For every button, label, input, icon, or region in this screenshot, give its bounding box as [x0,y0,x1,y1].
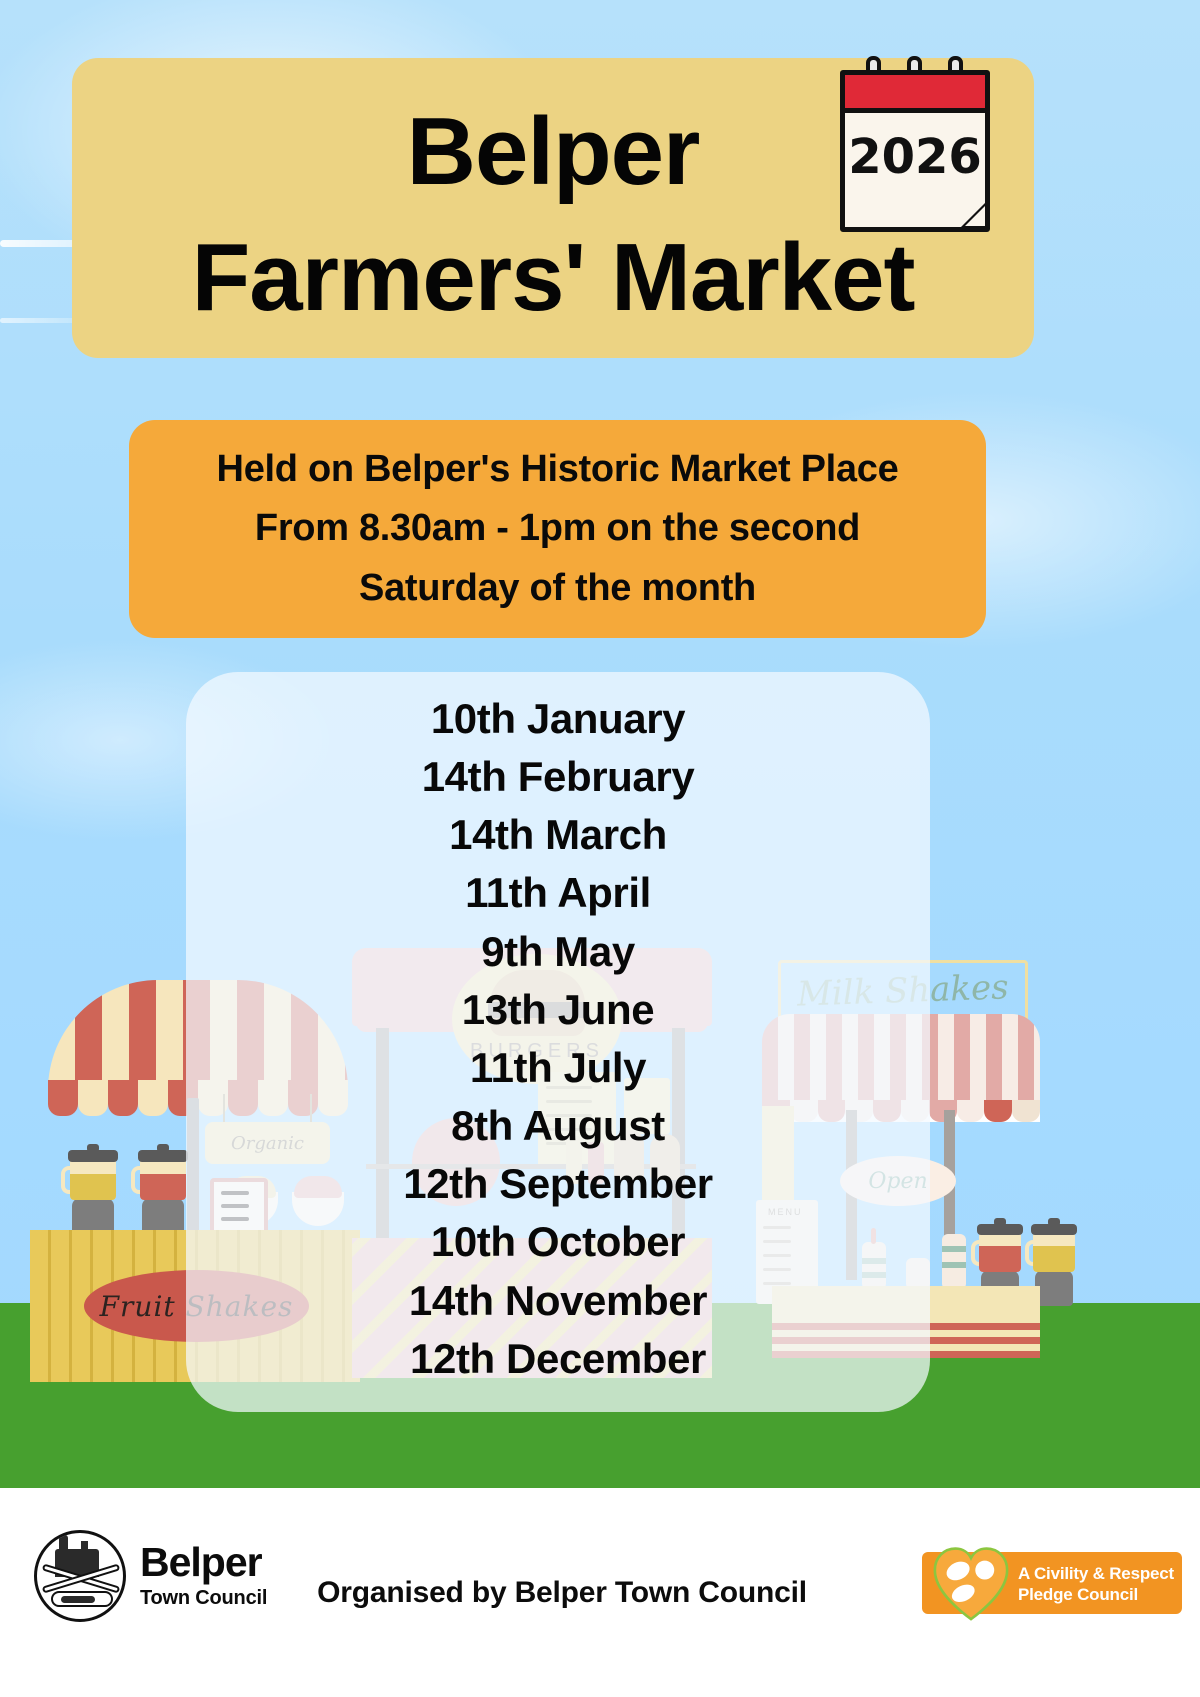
info-line-3: Saturday of the month [129,559,986,618]
calendar-page-fold [960,202,986,228]
market-date: 11th April [186,864,930,922]
market-date: 12th December [186,1330,930,1388]
civility-respect-pledge-badge: A Civility & Respect Pledge Council [922,1552,1182,1614]
heart-icon [928,1540,1014,1626]
blender-icon [134,1148,192,1236]
info-line-2: From 8.30am - 1pm on the second [129,499,986,558]
page-title-line-2: Farmers' Market [72,230,1034,326]
pledge-line-2: Pledge Council [1018,1585,1174,1606]
market-date: 12th September [186,1155,930,1213]
pledge-line-1: A Civility & Respect [1018,1564,1174,1585]
blender-icon [64,1148,122,1236]
title-card: Belper Farmers' Market 2026 [72,58,1034,358]
belper-logo-sub: Town Council [140,1587,267,1610]
calendar-year: 2026 [845,129,985,185]
belper-logo-text: Belper Town Council [140,1542,267,1610]
footer: Belper Town Council Organised by Belper … [0,1488,1200,1697]
market-date: 11th July [186,1039,930,1097]
milkshake-cup-icon [942,1234,966,1288]
belper-crest-icon [34,1530,126,1622]
market-date: 10th October [186,1213,930,1271]
calendar-icon: 2026 [834,56,994,236]
market-date: 14th November [186,1272,930,1330]
belper-logo-name: Belper [140,1542,267,1583]
market-date: 9th May [186,923,930,981]
calendar-header-band [845,75,985,113]
pledge-badge-text: A Civility & Respect Pledge Council [1018,1564,1174,1605]
market-date: 14th March [186,806,930,864]
market-date: 10th January [186,690,930,748]
organised-by-text: Organised by Belper Town Council [317,1576,807,1610]
poster-root: Organic Fruit Shakes [0,0,1200,1697]
market-date: 13th June [186,981,930,1039]
info-line-1: Held on Belper's Historic Market Place [129,440,986,499]
market-date: 8th August [186,1097,930,1155]
market-dates-list: 10th January 14th February 14th March 11… [186,690,930,1388]
belper-town-council-logo: Belper Town Council [34,1530,267,1622]
info-card: Held on Belper's Historic Market Place F… [129,420,986,638]
market-date: 14th February [186,748,930,806]
